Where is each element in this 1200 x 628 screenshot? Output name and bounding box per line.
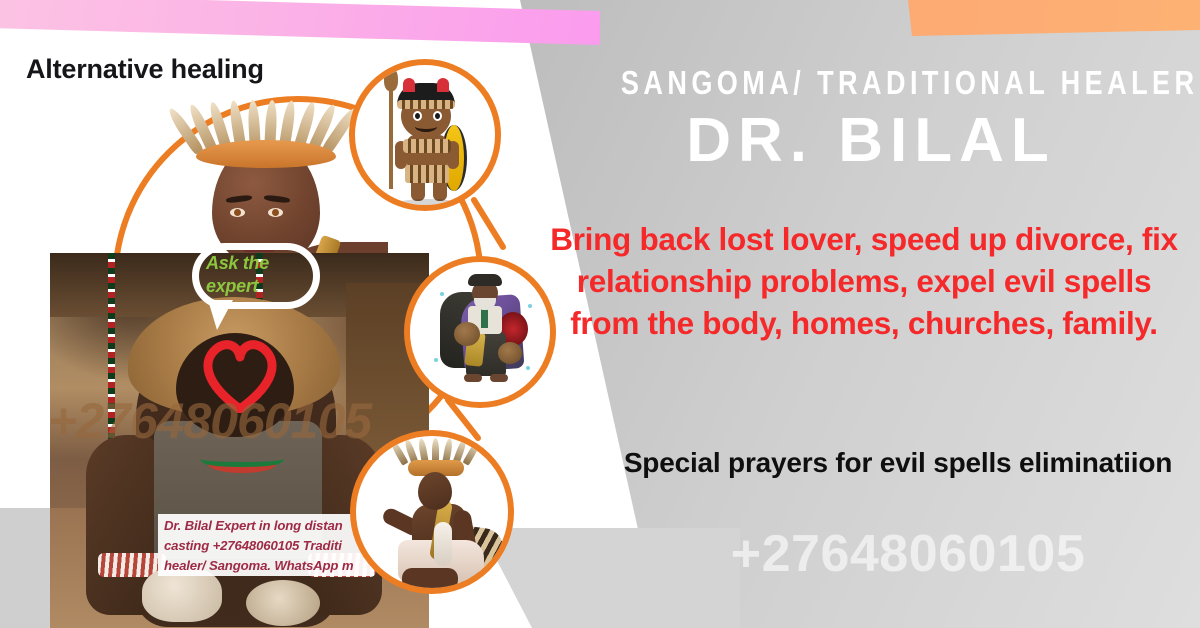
sparkle-3: [434, 358, 438, 362]
dancer-white-wrap: [434, 522, 452, 566]
sparkle-1: [440, 292, 444, 296]
dancer-head: [418, 472, 452, 510]
poster-canvas: Alternative healing: [0, 0, 1200, 628]
pink-band-decoration: [0, 0, 600, 45]
warrior-eye-left: [230, 208, 245, 217]
cartoon-eye-left: [413, 111, 422, 121]
caption-line-2: casting +27648060105 Traditi: [164, 536, 380, 556]
phone-number-ghost: +27648060105: [628, 524, 1188, 584]
cartoon-spear: [389, 77, 393, 189]
cartoon-spear-tip: [384, 67, 398, 91]
warrior-headband: [196, 140, 336, 168]
services-description: Bring back lost lover, speed up divorce,…: [540, 218, 1188, 345]
dancer-leg: [402, 568, 458, 590]
sparkle-2: [528, 304, 532, 308]
cartoon-headband: [397, 100, 455, 109]
kicker-sangoma-traditional-healer: SANGOMA/ TRADITIONAL HEALER: [621, 64, 1121, 102]
page-title-dr-bilal: DR. BILAL: [566, 105, 1176, 176]
diviner-healer-figure-icon: [404, 256, 556, 408]
ask-the-expert-text: Ask the expert: [206, 252, 324, 298]
special-prayers-text: Special prayers for evil spells eliminat…: [608, 443, 1188, 482]
sparkle-4: [526, 366, 530, 370]
photo-gourd: [246, 580, 320, 626]
warrior-eye-right: [268, 208, 283, 217]
traditional-dancer-icon: [350, 430, 514, 594]
caption-line-1: Dr. Bilal Expert in long distan: [164, 516, 380, 536]
diviner-bag-left: [454, 322, 480, 346]
cartoon-skirt: [405, 165, 449, 183]
diviner-foot-right: [490, 374, 508, 382]
zulu-warrior-cartoon-icon: [349, 59, 501, 211]
cartoon-smile: [415, 121, 437, 132]
diviner-hat: [468, 274, 502, 286]
alternative-healing-heading: Alternative healing: [26, 54, 264, 85]
diviner-foot-left: [464, 374, 482, 382]
cartoon-eye-right: [433, 111, 442, 121]
photo-red-necklace: [208, 455, 276, 473]
cartoon-fur-band: [403, 139, 451, 153]
photo-caption: Dr. Bilal Expert in long distan casting …: [164, 516, 380, 576]
gray-strip-bottom-left: [0, 508, 54, 628]
cartoon-shadow: [399, 199, 457, 207]
caption-line-3: healer/ Sangoma. WhatsApp m: [164, 556, 380, 576]
diviner-bag-right: [498, 342, 522, 364]
